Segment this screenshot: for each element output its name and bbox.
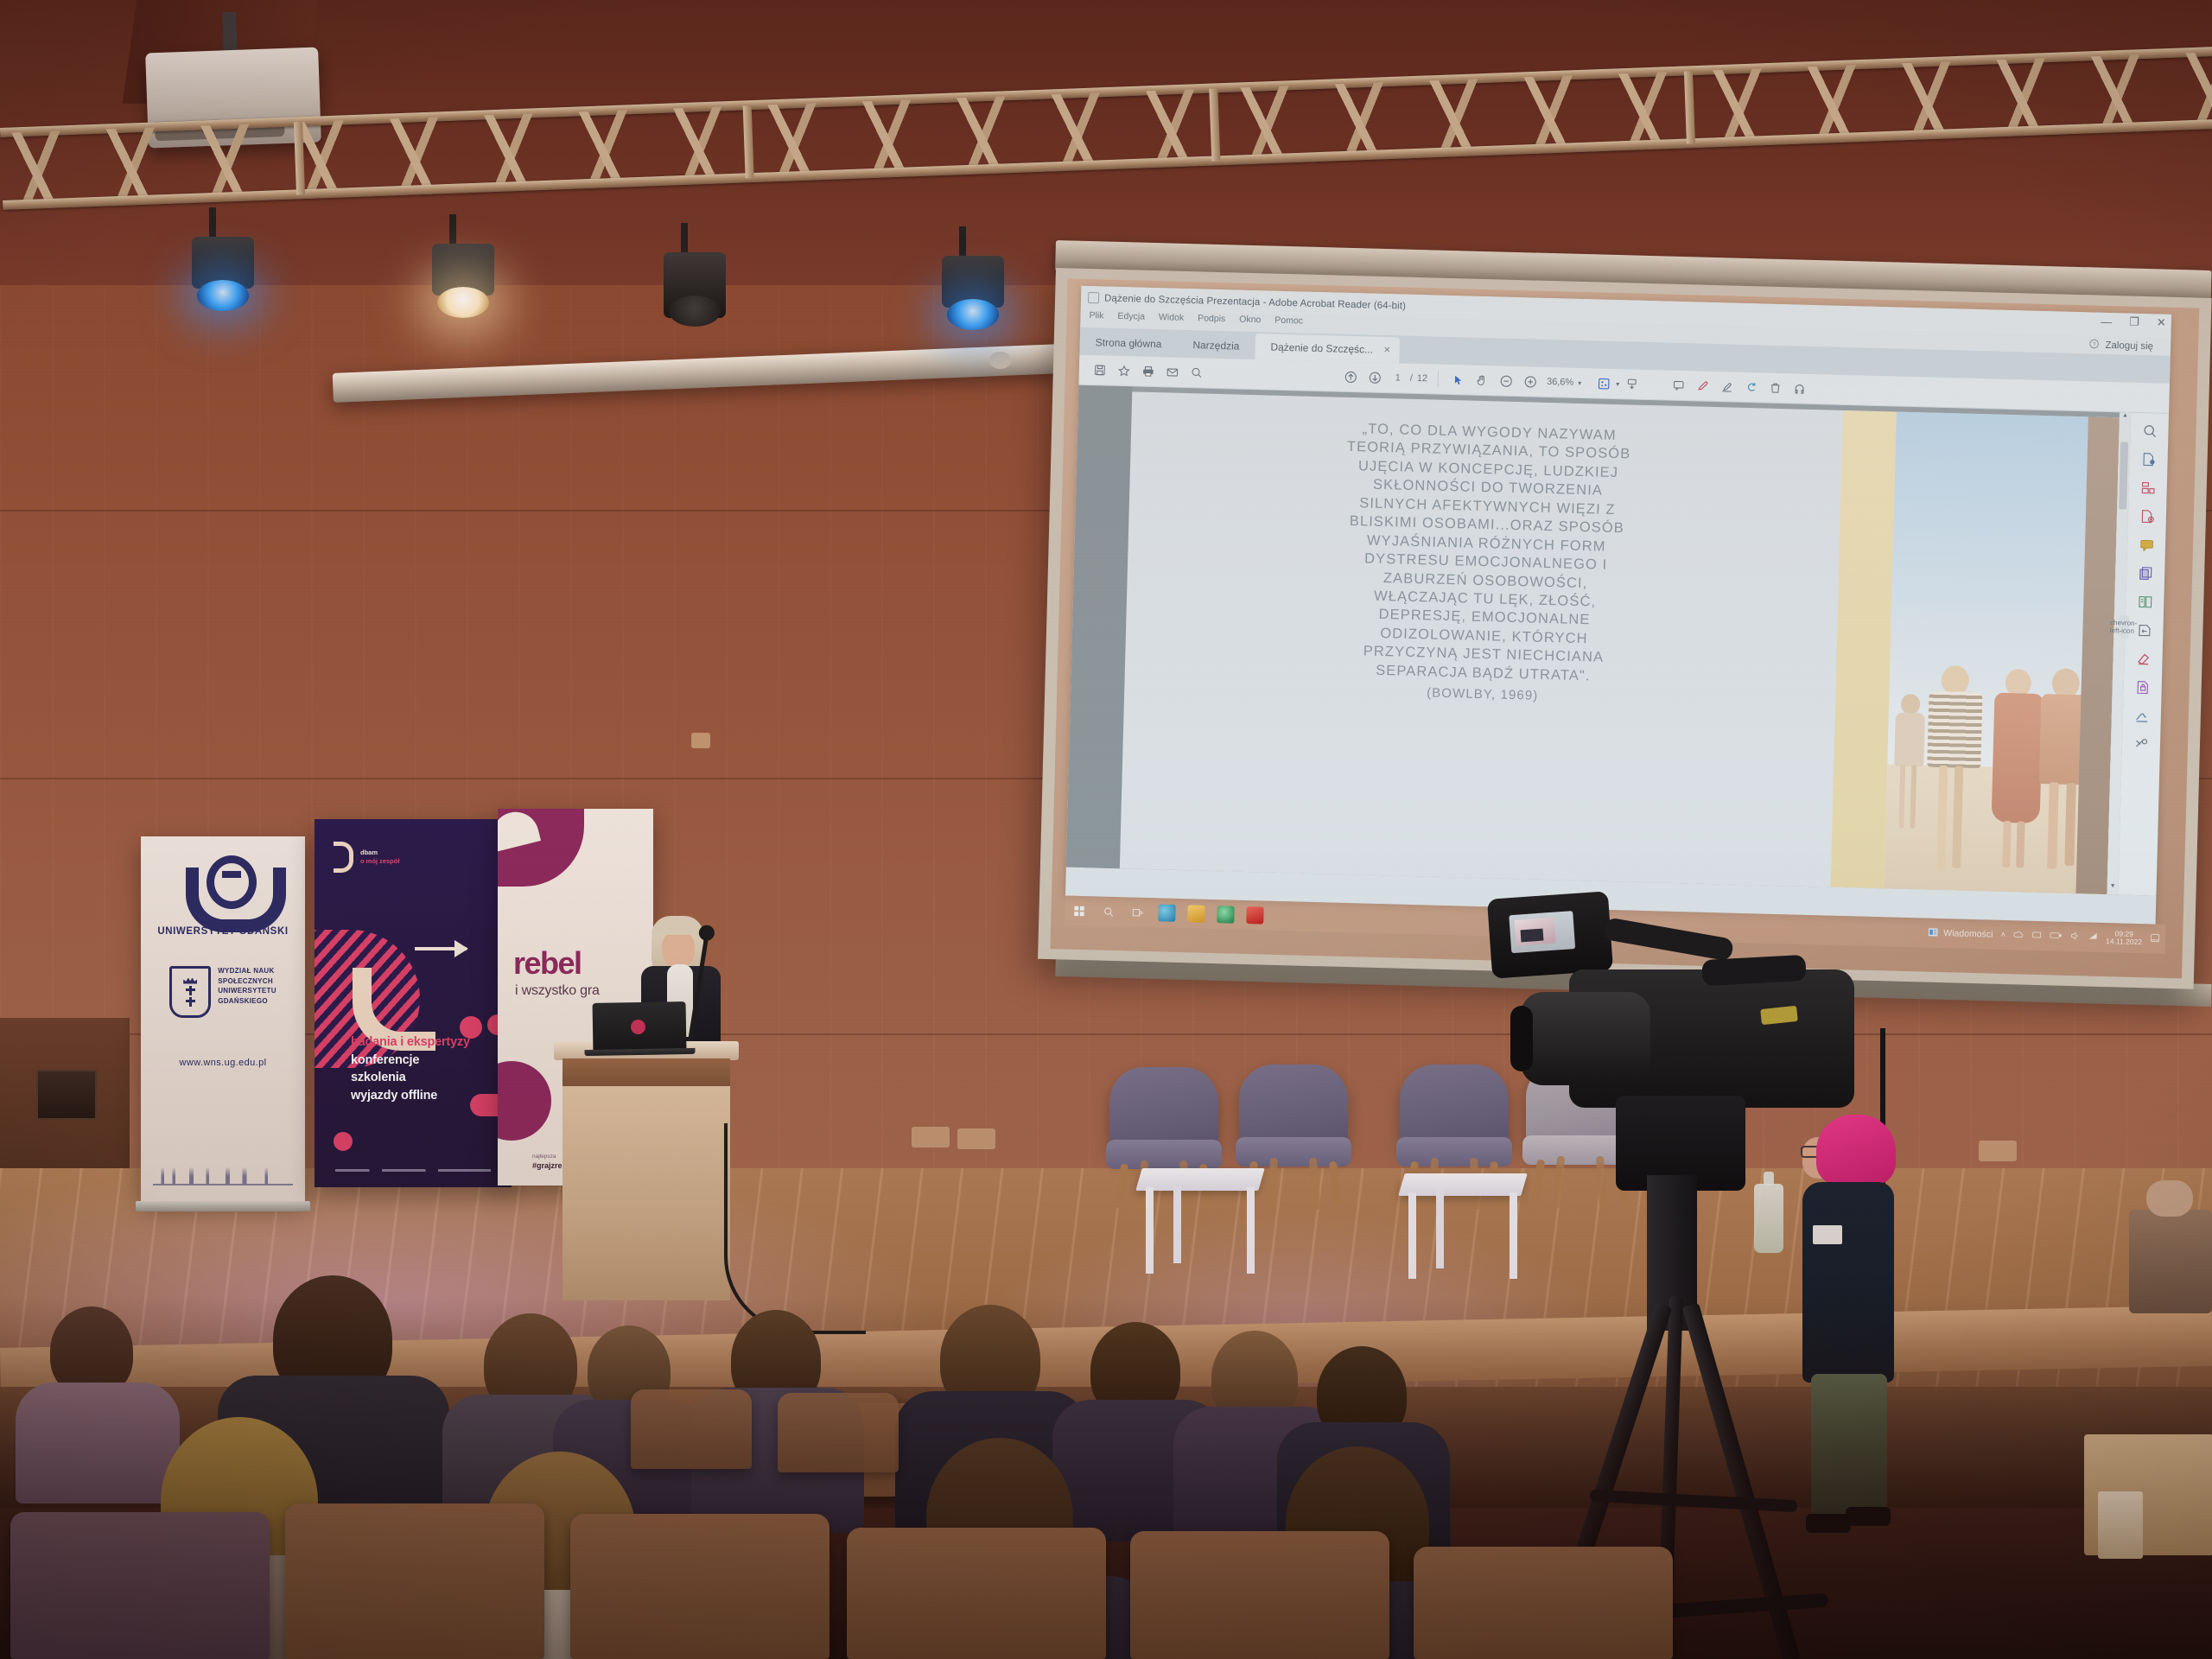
- operator-pink-hair: [1816, 1115, 1896, 1185]
- help-icon[interactable]: ?: [2089, 339, 2099, 351]
- print-icon[interactable]: [1136, 359, 1161, 383]
- camera-lens: [1521, 992, 1650, 1085]
- highlight-pen-icon[interactable]: [1690, 374, 1715, 397]
- photo-person-far: [1891, 693, 1929, 832]
- banner-word: badania i ekspertyzy: [351, 1033, 470, 1052]
- tab-strona-glowna[interactable]: Strona główna: [1079, 329, 1177, 358]
- side-table: [1139, 1168, 1262, 1274]
- sign-in-button[interactable]: Zaloguj się: [2105, 340, 2153, 352]
- laptop-on-lectern[interactable]: [593, 1001, 687, 1052]
- camera-lcd-screen: [1509, 911, 1575, 953]
- banner-word-list: badania i ekspertyzy konferencje szkolen…: [351, 1033, 470, 1104]
- taskbar-right-group: Wiadomości ˄: [1928, 925, 2160, 947]
- audience-seat: [778, 1393, 899, 1472]
- page-total: 12: [1417, 373, 1428, 384]
- audience-seat: [10, 1512, 270, 1659]
- rebel-hashtag: najlepsza #grajzre: [532, 1154, 563, 1170]
- wifi-icon[interactable]: [2088, 931, 2098, 944]
- acrobat-app-icon: [1088, 292, 1099, 303]
- zoom-in-icon[interactable]: [1518, 370, 1543, 393]
- side-person-silhouette: [2129, 1210, 2212, 1313]
- audience-seat: [570, 1514, 829, 1659]
- presenter-face: [662, 930, 695, 968]
- banner-base: [136, 1201, 310, 1211]
- window-controls: — ❐ ✕: [2101, 315, 2166, 330]
- menu-item-okno[interactable]: Okno: [1239, 315, 1262, 333]
- slide-beach-photo: [1885, 412, 2120, 895]
- rebel-tagline: i wszystko gra: [515, 983, 600, 999]
- banner-url: www.wns.ug.edu.pl: [180, 1058, 267, 1068]
- menu-item-podpis[interactable]: Podpis: [1198, 313, 1226, 331]
- tab-document-active[interactable]: Dążenie do Szczęśc... ✕: [1255, 334, 1400, 363]
- skyline-baseline: [153, 1184, 293, 1185]
- clock-date: 14.11.2022: [2106, 938, 2142, 946]
- right-arrow-icon: [415, 947, 467, 950]
- audience-seat: [1130, 1531, 1389, 1659]
- camera-viewfinder-arm: [1603, 917, 1734, 962]
- gdansk-skyline-graphic: [153, 1158, 293, 1184]
- menu-item-edycja[interactable]: Edycja: [1117, 311, 1145, 329]
- conference-hall-photo: Dążenie do Szczęścia Prezentacja - Adobe…: [0, 0, 2212, 1659]
- lectern-band: [563, 1058, 730, 1088]
- export-pdf-icon[interactable]: [2138, 448, 2159, 470]
- logo-line-2: o mój zespół: [360, 857, 399, 865]
- faculty-line: SPOŁECZNYCH: [218, 976, 276, 987]
- tab-close-icon[interactable]: ✕: [1383, 345, 1391, 354]
- spotlight-lens: [669, 296, 721, 327]
- zoom-out-icon[interactable]: [1494, 369, 1519, 392]
- document-viewport[interactable]: „TO, CO DLA WYGODY NAZYWAM TEORIĄ PRZYWI…: [1066, 385, 2169, 896]
- cursor-arrow-icon[interactable]: [1446, 368, 1471, 391]
- edge-browser-icon[interactable]: [1158, 904, 1176, 922]
- audience-seat: [847, 1528, 1106, 1659]
- menu-item-widok[interactable]: Widok: [1159, 312, 1185, 330]
- taskbar-left-group: [1070, 902, 1263, 925]
- wall-outlet: [957, 1128, 995, 1149]
- bookmark-star-icon[interactable]: [1112, 359, 1137, 383]
- zoom-dropdown-caret-icon[interactable]: ▾: [1578, 378, 1581, 386]
- acrobat-reader-icon[interactable]: [1246, 906, 1264, 925]
- banner-word: wyjazdy offline: [351, 1087, 470, 1105]
- rebel-arc-graphic: [498, 809, 584, 887]
- fit-page-icon[interactable]: [1592, 372, 1617, 395]
- audience-seat: [631, 1389, 752, 1469]
- banner-word: konferencje: [351, 1052, 470, 1070]
- lectern: [566, 1041, 727, 1300]
- windows-start-icon[interactable]: [1070, 902, 1088, 920]
- search-icon[interactable]: [1099, 903, 1117, 921]
- ug-monogram-icon: [186, 855, 260, 919]
- news-and-interests[interactable]: Wiadomości: [1928, 926, 1993, 941]
- combine-files-icon[interactable]: [2135, 563, 2157, 584]
- email-icon[interactable]: [1160, 360, 1185, 384]
- presenter-hair-front: [652, 916, 703, 935]
- logo-line-1: dbam: [360, 849, 378, 856]
- spotlight-lens: [197, 280, 249, 311]
- laptop-logo: [631, 1020, 645, 1034]
- side-object: [2098, 1491, 2143, 1559]
- projection-screen: Dążenie do Szczęścia Prezentacja - Adobe…: [1038, 268, 2211, 989]
- banner-word: szkolenia: [351, 1069, 470, 1087]
- audience-seat: [285, 1503, 544, 1659]
- organize-pages-icon[interactable]: [2134, 591, 2156, 613]
- scrollbar-thumb[interactable]: [2119, 442, 2128, 509]
- pdf-page[interactable]: „TO, CO DLA WYGODY NAZYWAM TEORIĄ PRZYWI…: [1120, 391, 2120, 894]
- side-person-hand: [2146, 1180, 2193, 1217]
- rebel-hashtag-small: najlepsza: [532, 1154, 563, 1160]
- volume-icon[interactable]: [2069, 930, 2080, 943]
- banner-footer-logos: [335, 1169, 491, 1172]
- scroll-down-icon[interactable]: ▼: [2107, 883, 2118, 894]
- next-page-icon[interactable]: [1362, 365, 1387, 389]
- faculty-block: WYDZIAŁ NAUK SPOŁECZNYCH UNIWERSYTETU GD…: [169, 966, 276, 1018]
- delete-icon[interactable]: [1763, 376, 1788, 399]
- audience-seat: [1414, 1547, 1673, 1659]
- scroll-mode-icon[interactable]: [1619, 372, 1644, 396]
- camera-top-handle: [1701, 955, 1806, 986]
- read-aloud-icon[interactable]: [1787, 377, 1812, 400]
- search-icon[interactable]: [1185, 361, 1210, 385]
- camera-viewfinder-hood: [1487, 891, 1613, 979]
- show-hidden-icon[interactable]: ˄: [2000, 930, 2005, 939]
- chevron-left-icon[interactable]: chevron-left-icon: [2118, 615, 2129, 638]
- projection-surface: Dążenie do Szczęścia Prezentacja - Adobe…: [1050, 278, 2199, 978]
- faculty-line: GDAŃSKIEGO: [218, 996, 276, 1007]
- more-tools-icon[interactable]: [2131, 734, 2152, 755]
- toolbar-separator: [1438, 372, 1439, 387]
- network-icon[interactable]: [2031, 929, 2042, 942]
- acrobat-reader-window[interactable]: Dążenie do Szczęścia Prezentacja - Adobe…: [1065, 286, 2171, 925]
- faculty-line: WYDZIAŁ NAUK: [218, 966, 276, 976]
- edit-pdf-icon[interactable]: [2137, 505, 2158, 527]
- logo-mark-icon: [334, 842, 353, 873]
- banner-uniwersytet-gdanski: UNIWERSYTET GDAŃSKI WYDZIAŁ NAUK SPOŁECZ…: [141, 836, 305, 1201]
- scroll-up-icon[interactable]: ▲: [2120, 412, 2131, 423]
- spotlight-lens: [437, 287, 489, 318]
- page-separator: /: [1410, 373, 1413, 384]
- wall-fixture: [36, 1070, 97, 1120]
- close-button[interactable]: ✕: [2157, 315, 2166, 329]
- menu-item-plik[interactable]: Plik: [1089, 310, 1103, 327]
- menu-item-pomoc[interactable]: Pomoc: [1274, 315, 1303, 334]
- tab-label: Dążenie do Szczęśc...: [1270, 341, 1373, 356]
- gdansk-coat-of-arms-icon: [169, 966, 211, 1018]
- operator-shirt-logo: [1813, 1225, 1842, 1244]
- tab-narzedzia[interactable]: Narzędzia: [1177, 332, 1255, 359]
- file-explorer-icon[interactable]: [1187, 905, 1205, 923]
- rebel-wordmark: rebel: [513, 945, 582, 982]
- minimize-button[interactable]: —: [2101, 315, 2112, 327]
- protect-icon[interactable]: [2132, 677, 2153, 698]
- comment-icon[interactable]: [1666, 374, 1691, 397]
- strikethrough-icon[interactable]: [1714, 375, 1739, 398]
- create-pdf-icon[interactable]: [2137, 477, 2158, 499]
- svg-text:?: ?: [2093, 341, 2096, 347]
- redact-icon[interactable]: [2133, 648, 2154, 670]
- slide-citation: (BOWLBY, 1969): [1427, 685, 1539, 705]
- camera-live-preview: [1515, 918, 1556, 946]
- rebel-hashtag-text: #grajzre: [532, 1161, 563, 1170]
- window-title: Dążenie do Szczęścia Prezentacja - Adobe…: [1104, 293, 1406, 311]
- notification-icon[interactable]: [2150, 932, 2160, 945]
- wall-plate: [691, 733, 710, 748]
- onedrive-icon[interactable]: [2013, 929, 2024, 942]
- photo-person-striped-shirt: [1923, 665, 1986, 873]
- faculty-line: UNIWERSYTETU: [218, 986, 276, 996]
- zoom-level-value[interactable]: 36,6%: [1542, 377, 1579, 388]
- slide-quote-block: „TO, CO DLA WYGODY NAZYWAM TEORIĄ PRZYWI…: [1120, 391, 1843, 887]
- stamp-icon[interactable]: [1738, 376, 1764, 399]
- battery-icon[interactable]: [2050, 931, 2062, 942]
- wall-outlet: [912, 1127, 950, 1147]
- excel-icon[interactable]: [1217, 906, 1235, 924]
- decor-dot: [334, 1132, 353, 1151]
- page-indicator[interactable]: 1 / 12: [1387, 372, 1432, 384]
- lectern-body: [563, 1086, 730, 1300]
- wall-outlet: [1979, 1141, 2017, 1161]
- previous-page-icon[interactable]: [1338, 365, 1363, 389]
- spotlight-lens: [947, 299, 999, 330]
- search-tool-icon[interactable]: [2139, 420, 2160, 442]
- save-icon[interactable]: [1088, 359, 1113, 382]
- taskbar-clock[interactable]: 09:29 14.11.2022: [2106, 930, 2142, 946]
- banner-badania-ekspertyzy: dbam o mój zespół badania i ekspertyzy k…: [315, 819, 512, 1187]
- comment-tool-icon[interactable]: [2136, 534, 2158, 556]
- hand-icon[interactable]: [1470, 369, 1495, 392]
- audience-shoulders: [16, 1382, 180, 1503]
- rebel-circle-graphic: [498, 1061, 551, 1141]
- banner-logo: dbam o mój zespół: [334, 842, 399, 873]
- news-label: Wiadomości: [1943, 928, 1993, 939]
- page-current-input[interactable]: 1: [1390, 372, 1406, 383]
- maximize-button[interactable]: ❐: [2129, 315, 2139, 329]
- fill-and-sign-icon[interactable]: [2132, 705, 2153, 727]
- task-view-icon[interactable]: [1128, 903, 1147, 921]
